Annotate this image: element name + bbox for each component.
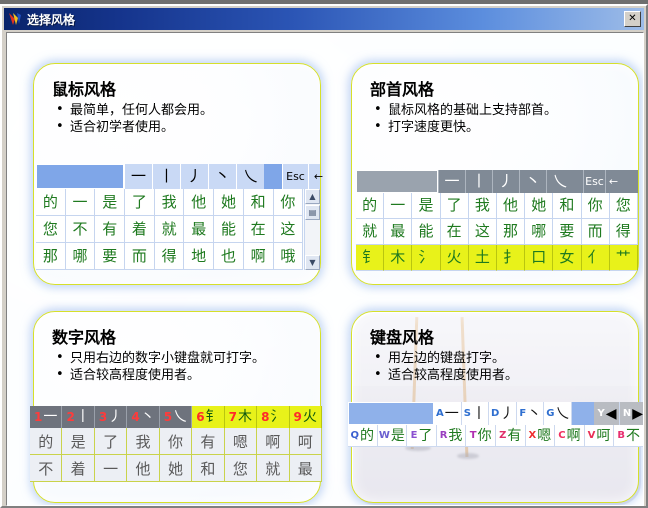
candidate-cell[interactable]: 哪 bbox=[525, 219, 553, 245]
stroke-key-dian[interactable]: 丶 bbox=[519, 170, 546, 193]
radical-cell[interactable]: 氵 bbox=[412, 245, 440, 271]
ime-toolbar[interactable]: 一 丨 丿 丶 乀 Esc ← bbox=[356, 170, 638, 193]
candidate-cell[interactable]: 在 bbox=[244, 216, 274, 243]
panel-number-style[interactable]: 数字风格 只用右边的数字小键盘就可打字。 适合较高程度使用者。 1一 2丨 3丿… bbox=[33, 311, 321, 503]
panel-bullets: 用左边的键盘打字。 适合较高程度使用者。 bbox=[372, 350, 518, 384]
close-button[interactable]: ✕ bbox=[624, 11, 641, 27]
key-digit: 2 bbox=[66, 411, 74, 423]
candidate-cell-e[interactable]: E了 bbox=[407, 425, 437, 447]
stroke-key-a[interactable]: A一 bbox=[434, 402, 462, 425]
panel-mouse-style[interactable]: 鼠标风格 最简单，任何人都会用。 适合初学者使用。 一 丨 丿 丶 乀 Esc … bbox=[33, 63, 321, 285]
candidate-cell-w[interactable]: W是 bbox=[378, 425, 408, 447]
candidate-cell[interactable]: 能 bbox=[214, 216, 244, 243]
bullet-item: 最简单，任何人都会用。 bbox=[54, 102, 213, 119]
candidate-cell[interactable]: 她 bbox=[160, 455, 192, 482]
candidate-cell[interactable]: 是 bbox=[62, 428, 94, 455]
candidate-row[interactable]: 的 一 是 了 我 他 她 和 你 您 bbox=[356, 193, 638, 219]
numeric-toolbar[interactable]: 1一 2丨 3丿 4丶 5乀 6钅 7木 8氵 9火 bbox=[30, 406, 322, 428]
esc-key[interactable]: Esc bbox=[282, 164, 308, 189]
key-digit: 9 bbox=[294, 411, 302, 423]
candidate-cell[interactable]: 要 bbox=[95, 243, 125, 270]
key-letter: Q bbox=[351, 431, 360, 441]
key-glyph: 呵 bbox=[596, 429, 610, 443]
candidate-row[interactable]: 您 不 有 着 就 最 能 在 这 bbox=[36, 216, 304, 243]
panel-radical-style[interactable]: 部首风格 鼠标风格的基础上支持部首。 打字速度更快。 一 丨 丿 丶 乀 Esc… bbox=[351, 63, 639, 285]
toolbar-spacer bbox=[572, 402, 594, 425]
scrollbar-track[interactable] bbox=[305, 220, 320, 255]
prev-page-key[interactable]: Y◀ bbox=[594, 402, 620, 425]
key-digit: 4 bbox=[131, 411, 139, 423]
key-letter: Z bbox=[499, 431, 506, 441]
key-glyph: 的 bbox=[360, 429, 374, 443]
key-glyph: 丨 bbox=[472, 407, 486, 421]
scroll-down-arrow[interactable]: ▼ bbox=[305, 255, 320, 270]
candidate-cell[interactable]: 有 bbox=[95, 216, 125, 243]
candidate-cell[interactable]: 我 bbox=[469, 193, 497, 219]
compose-input[interactable] bbox=[356, 170, 438, 193]
candidate-cell[interactable]: 一 bbox=[384, 193, 412, 219]
backspace-key[interactable]: ← bbox=[308, 164, 328, 189]
candidate-cell[interactable]: 这 bbox=[274, 216, 304, 243]
candidate-cell[interactable]: 的 bbox=[356, 193, 384, 219]
key-digit: 5 bbox=[164, 411, 172, 423]
dialog-window: 选择风格 ✕ 鼠标风格 最简单，任何人都会用。 适合初学者使用。 一 丨 bbox=[0, 4, 648, 508]
candidate-cell[interactable]: 您 bbox=[225, 455, 257, 482]
stroke-key-f[interactable]: F丶 bbox=[517, 402, 544, 425]
candidate-grid[interactable]: 的 一 是 了 我 他 她 和 你 您 不 bbox=[36, 189, 304, 270]
key-glyph: 丿 bbox=[108, 410, 122, 424]
key-letter: A bbox=[436, 409, 444, 419]
key-digit: 3 bbox=[99, 411, 107, 423]
candidate-cell[interactable]: 和 bbox=[192, 455, 224, 482]
candidate-cell[interactable]: 而 bbox=[125, 243, 155, 270]
radical-cell[interactable]: 口 bbox=[525, 245, 553, 271]
key-glyph: 氵 bbox=[270, 410, 284, 424]
key-glyph: 了 bbox=[418, 429, 432, 443]
candidate-cell-b[interactable]: B不 bbox=[614, 425, 644, 447]
radical-cell[interactable]: 艹 bbox=[610, 245, 638, 271]
candidate-cell[interactable]: 你 bbox=[160, 428, 192, 455]
ime-widget-number[interactable]: 1一 2丨 3丿 4丶 5乀 6钅 7木 8氵 9火 的 是 了 我 bbox=[30, 406, 322, 482]
ime-widget-radical[interactable]: 一 丨 丿 丶 乀 Esc ← 的 一 是 了 我 他 bbox=[356, 170, 638, 271]
numeric-key-7[interactable]: 7木 bbox=[225, 406, 257, 428]
key-glyph: 丿 bbox=[500, 407, 514, 421]
stroke-key-dian[interactable]: 丶 bbox=[208, 164, 236, 189]
bullet-item: 适合较高程度使用者。 bbox=[54, 367, 265, 384]
candidate-cell[interactable]: 我 bbox=[127, 428, 159, 455]
key-letter: D bbox=[491, 409, 499, 419]
candidate-row[interactable]: 的 是 了 我 你 有 嗯 啊 呵 bbox=[30, 428, 322, 455]
key-glyph: 乀 bbox=[555, 407, 569, 421]
left-arrow-icon: ◀ bbox=[606, 407, 617, 421]
panel-title: 数字风格 bbox=[52, 324, 116, 348]
candidate-cell[interactable]: 一 bbox=[66, 189, 96, 216]
stroke-key-zhe[interactable]: 乀 bbox=[236, 164, 264, 189]
keyboard-toolbar[interactable]: A一 S丨 D丿 F丶 G乀 Y◀ N▶ Esc bbox=[348, 402, 644, 425]
candidate-cell[interactable]: 那 bbox=[36, 243, 66, 270]
radical-cell[interactable]: 女 bbox=[553, 245, 581, 271]
candidate-cell[interactable]: 他 bbox=[184, 189, 214, 216]
numeric-key-4[interactable]: 4丶 bbox=[127, 406, 159, 428]
candidate-cell[interactable]: 最 bbox=[290, 455, 322, 482]
stroke-key-heng[interactable]: 一 bbox=[124, 164, 152, 189]
candidate-cell[interactable]: 也 bbox=[214, 243, 244, 270]
toolbar-spacer bbox=[264, 164, 282, 189]
candidate-cell[interactable]: 她 bbox=[214, 189, 244, 216]
key-glyph: 钅 bbox=[206, 410, 220, 424]
candidate-cell[interactable]: 他 bbox=[127, 455, 159, 482]
stroke-key-shu[interactable]: 丨 bbox=[465, 170, 492, 193]
candidate-cell[interactable]: 你 bbox=[274, 189, 304, 216]
bullet-item: 只用右边的数字小键盘就可打字。 bbox=[54, 350, 265, 367]
key-letter: T bbox=[470, 431, 477, 441]
candidate-cell-t[interactable]: T你 bbox=[466, 425, 496, 447]
radical-cell[interactable]: 土 bbox=[469, 245, 497, 271]
key-digit: 1 bbox=[34, 411, 42, 423]
panel-title: 鼠标风格 bbox=[52, 76, 116, 100]
candidate-cell-c[interactable]: C啊 bbox=[555, 425, 585, 447]
key-letter: F bbox=[519, 409, 526, 419]
candidate-cell[interactable]: 了 bbox=[95, 428, 127, 455]
toolbar-spacer bbox=[573, 170, 583, 193]
key-glyph: 是 bbox=[391, 429, 405, 443]
candidate-cell[interactable]: 哦 bbox=[274, 243, 304, 270]
candidate-cell[interactable]: 他 bbox=[497, 193, 525, 219]
stroke-key-g[interactable]: G乀 bbox=[544, 402, 572, 425]
candidate-cell[interactable]: 一 bbox=[95, 455, 127, 482]
candidate-cell[interactable]: 嗯 bbox=[225, 428, 257, 455]
stroke-key-heng[interactable]: 一 bbox=[438, 170, 465, 193]
panel-title: 键盘风格 bbox=[370, 324, 434, 348]
candidate-row[interactable]: 不 着 一 他 她 和 您 就 最 bbox=[30, 455, 322, 482]
dialog-client-area: 鼠标风格 最简单，任何人都会用。 适合初学者使用。 一 丨 丿 丶 乀 Esc … bbox=[6, 32, 644, 506]
candidate-cell[interactable]: 着 bbox=[62, 455, 94, 482]
candidate-cell[interactable]: 而 bbox=[582, 219, 610, 245]
candidate-cell[interactable]: 是 bbox=[412, 193, 440, 219]
candidate-cell[interactable]: 哪 bbox=[66, 243, 96, 270]
candidate-cell[interactable]: 得 bbox=[610, 219, 638, 245]
candidate-cell[interactable]: 不 bbox=[30, 455, 62, 482]
candidate-grid[interactable]: 的 一 是 了 我 他 她 和 你 您 就 最 能 bbox=[356, 193, 638, 271]
candidate-cell[interactable]: 的 bbox=[30, 428, 62, 455]
candidate-row[interactable]: 的 一 是 了 我 他 她 和 你 bbox=[36, 189, 304, 216]
numeric-key-8[interactable]: 8氵 bbox=[257, 406, 289, 428]
candidate-cell[interactable]: 这 bbox=[469, 219, 497, 245]
compose-input[interactable] bbox=[36, 164, 124, 189]
key-glyph: 木 bbox=[238, 410, 252, 424]
key-glyph: 乀 bbox=[173, 410, 187, 424]
candidate-cell[interactable]: 是 bbox=[95, 189, 125, 216]
key-glyph: 有 bbox=[507, 429, 521, 443]
radical-cell[interactable]: 亻 bbox=[582, 245, 610, 271]
key-letter: V bbox=[588, 431, 596, 441]
numeric-key-9[interactable]: 9火 bbox=[290, 406, 322, 428]
titlebar: 选择风格 ✕ bbox=[4, 8, 644, 30]
key-glyph: 丨 bbox=[76, 410, 90, 424]
candidate-cell[interactable]: 那 bbox=[497, 219, 525, 245]
key-digit: 8 bbox=[261, 411, 269, 423]
radical-cell[interactable]: 木 bbox=[384, 245, 412, 271]
key-glyph: 我 bbox=[448, 429, 462, 443]
key-glyph: 一 bbox=[445, 407, 459, 421]
stroke-key-pie[interactable]: 丿 bbox=[492, 170, 519, 193]
candidate-cell[interactable]: 就 bbox=[155, 216, 185, 243]
candidate-cell-v[interactable]: V呵 bbox=[585, 425, 615, 447]
candidate-cell[interactable]: 了 bbox=[441, 193, 469, 219]
key-letter: S bbox=[464, 409, 471, 419]
panel-keyboard-style[interactable]: 键盘风格 用左边的键盘打字。 适合较高程度使用者。 A一 S丨 D丿 F丶 G乀… bbox=[351, 311, 639, 503]
radical-row[interactable]: 钅 木 氵 火 土 扌 口 女 亻 艹 bbox=[356, 245, 638, 271]
candidate-cell[interactable]: 呵 bbox=[290, 428, 322, 455]
panel-bullets: 最简单，任何人都会用。 适合初学者使用。 bbox=[54, 102, 213, 136]
candidate-cell[interactable]: 和 bbox=[244, 189, 274, 216]
key-glyph: 嗯 bbox=[537, 429, 551, 443]
candidate-cell-x[interactable]: X嗯 bbox=[526, 425, 556, 447]
numeric-key-1[interactable]: 1一 bbox=[30, 406, 62, 428]
next-page-key[interactable]: N▶ bbox=[620, 402, 644, 425]
ime-toolbar[interactable]: 一 丨 丿 丶 乀 Esc ← bbox=[36, 164, 320, 189]
bullet-item: 鼠标风格的基础上支持部首。 bbox=[372, 102, 557, 119]
stroke-key-s[interactable]: S丨 bbox=[462, 402, 489, 425]
candidate-cell[interactable]: 有 bbox=[192, 428, 224, 455]
candidate-cell[interactable]: 我 bbox=[155, 189, 185, 216]
key-glyph: 你 bbox=[478, 429, 492, 443]
candidate-cell[interactable]: 的 bbox=[36, 189, 66, 216]
app-logo-icon bbox=[7, 11, 23, 27]
right-arrow-icon: ▶ bbox=[632, 407, 643, 421]
key-glyph: 一 bbox=[43, 410, 57, 424]
bullet-item: 用左边的键盘打字。 bbox=[372, 350, 518, 367]
candidate-cell[interactable]: 要 bbox=[553, 219, 581, 245]
radical-cell[interactable]: 扌 bbox=[497, 245, 525, 271]
key-letter: X bbox=[529, 431, 537, 441]
compose-input[interactable] bbox=[348, 402, 434, 425]
candidate-cell[interactable]: 就 bbox=[356, 219, 384, 245]
candidate-cell[interactable]: 她 bbox=[525, 193, 553, 219]
ime-candidate-area[interactable]: 的 一 是 了 我 他 她 和 你 您 不 bbox=[36, 189, 320, 270]
key-letter: G bbox=[546, 409, 554, 419]
key-glyph: 丶 bbox=[141, 410, 155, 424]
candidate-cell[interactable]: 地 bbox=[184, 243, 214, 270]
scroll-up-arrow[interactable]: ▲ bbox=[305, 189, 320, 204]
candidate-cell[interactable]: 您 bbox=[36, 216, 66, 243]
key-glyph: 火 bbox=[303, 410, 317, 424]
candidate-cell[interactable]: 得 bbox=[155, 243, 185, 270]
stroke-key-d[interactable]: D丿 bbox=[489, 402, 517, 425]
candidate-cell[interactable]: 最 bbox=[184, 216, 214, 243]
candidate-scrollbar[interactable]: ▲ ▤ ▼ bbox=[304, 189, 320, 270]
stroke-key-zhe[interactable]: 乀 bbox=[546, 170, 573, 193]
ime-widget-keyboard[interactable]: A一 S丨 D丿 F丶 G乀 Y◀ N▶ Esc Q的 W是 E了 R我 T你 … bbox=[348, 402, 644, 447]
numeric-key-2[interactable]: 2丨 bbox=[62, 406, 94, 428]
bullet-item: 打字速度更快。 bbox=[372, 119, 557, 136]
key-digit: 7 bbox=[229, 411, 237, 423]
key-letter: R bbox=[440, 431, 448, 441]
keyboard-candidate-row[interactable]: Q的 W是 E了 R我 T你 Z有 X嗯 C啊 V呵 B不 bbox=[348, 425, 644, 447]
esc-key[interactable]: Esc bbox=[583, 170, 605, 193]
numeric-candidate-grid[interactable]: 的 是 了 我 你 有 嗯 啊 呵 不 着 一 他 bbox=[30, 428, 322, 482]
candidate-cell[interactable]: 在 bbox=[441, 219, 469, 245]
key-letter: C bbox=[558, 431, 565, 441]
key-glyph: 啊 bbox=[567, 429, 581, 443]
backspace-key[interactable]: ← bbox=[605, 170, 621, 193]
candidate-row[interactable]: 那 哪 要 而 得 地 也 啊 哦 bbox=[36, 243, 304, 270]
window-title: 选择风格 bbox=[27, 11, 75, 28]
numeric-key-6[interactable]: 6钅 bbox=[192, 406, 224, 428]
candidate-cell[interactable]: 能 bbox=[412, 219, 440, 245]
candidate-cell-r[interactable]: R我 bbox=[437, 425, 467, 447]
key-glyph: 不 bbox=[626, 429, 640, 443]
candidate-cell[interactable]: 您 bbox=[610, 193, 638, 219]
candidate-cell[interactable]: 了 bbox=[125, 189, 155, 216]
panel-title: 部首风格 bbox=[370, 76, 434, 100]
candidate-cell[interactable]: 啊 bbox=[244, 243, 274, 270]
radical-cell[interactable]: 钅 bbox=[356, 245, 384, 271]
key-letter: E bbox=[411, 431, 418, 441]
candidate-cell[interactable]: 不 bbox=[66, 216, 96, 243]
candidate-row[interactable]: 就 最 能 在 这 那 哪 要 而 得 bbox=[356, 219, 638, 245]
candidate-cell[interactable]: 着 bbox=[125, 216, 155, 243]
key-letter: B bbox=[617, 431, 625, 441]
candidate-cell-z[interactable]: Z有 bbox=[496, 425, 526, 447]
bullet-item: 适合较高程度使用者。 bbox=[372, 367, 518, 384]
ime-widget-mouse[interactable]: 一 丨 丿 丶 乀 Esc ← 的 一 是 了 bbox=[36, 164, 320, 270]
panel-bullets: 只用右边的数字小键盘就可打字。 适合较高程度使用者。 bbox=[54, 350, 265, 384]
candidate-cell[interactable]: 和 bbox=[553, 193, 581, 219]
panel-bullets: 鼠标风格的基础上支持部首。 打字速度更快。 bbox=[372, 102, 557, 136]
key-letter: W bbox=[379, 431, 390, 441]
candidate-cell[interactable]: 最 bbox=[384, 219, 412, 245]
key-letter: Y bbox=[597, 409, 604, 419]
stroke-key-pie[interactable]: 丿 bbox=[180, 164, 208, 189]
candidate-cell[interactable]: 啊 bbox=[257, 428, 289, 455]
numeric-key-5[interactable]: 5乀 bbox=[160, 406, 192, 428]
candidate-cell[interactable]: 就 bbox=[257, 455, 289, 482]
radical-cell[interactable]: 火 bbox=[441, 245, 469, 271]
candidate-cell[interactable]: 你 bbox=[582, 193, 610, 219]
key-digit: 6 bbox=[196, 411, 204, 423]
key-letter: N bbox=[623, 409, 631, 419]
stroke-key-shu[interactable]: 丨 bbox=[152, 164, 180, 189]
bullet-item: 适合初学者使用。 bbox=[54, 119, 213, 136]
scrollbar-thumb[interactable]: ▤ bbox=[305, 205, 320, 220]
key-glyph: 丶 bbox=[527, 407, 541, 421]
numeric-key-3[interactable]: 3丿 bbox=[95, 406, 127, 428]
candidate-cell-q[interactable]: Q的 bbox=[348, 425, 378, 447]
